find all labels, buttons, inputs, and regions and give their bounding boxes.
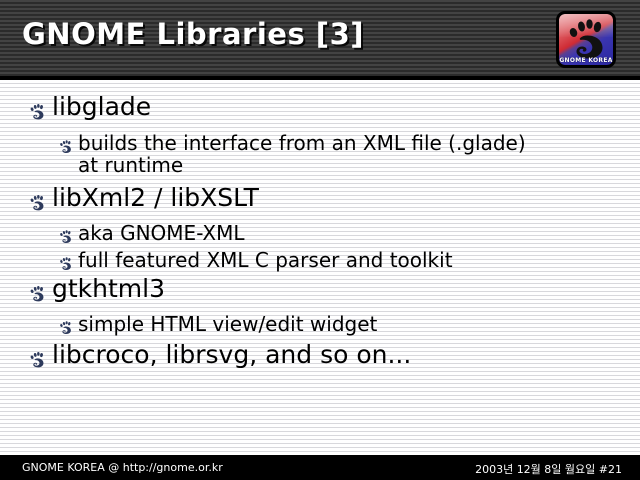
- page-title: GNOME Libraries [3]: [22, 17, 364, 51]
- gnome-foot-bullet-icon: [58, 318, 73, 336]
- gnome-korea-logo: GNOME KOREA: [556, 11, 616, 68]
- gnome-foot-bullet-icon: [58, 137, 73, 155]
- slide-footer: GNOME KOREA @ http://gnome.or.kr 2003년 1…: [0, 455, 640, 480]
- gnome-foot-bullet-icon: [58, 227, 73, 245]
- logo-caption: GNOME KOREA: [559, 57, 613, 64]
- gnome-foot-bullet-icon: [28, 100, 46, 122]
- footer-organization-url: GNOME KOREA @ http://gnome.or.kr: [22, 461, 223, 474]
- list-item: libXml2 / libXSLT: [28, 185, 259, 213]
- list-item-label: libXml2 / libXSLT: [52, 185, 259, 212]
- list-item: simple HTML view/edit widget: [58, 313, 377, 336]
- gnome-foot-bullet-icon: [58, 254, 73, 272]
- footer-date-and-slide-number: 2003년 12월 8일 월요일 #21: [475, 461, 622, 477]
- presentation-slide: GNOME Libraries [3] GNOME KOREA: [0, 0, 640, 480]
- list-item-label: simple HTML view/edit widget: [78, 313, 377, 335]
- list-item: builds the interface from an XML file (.…: [58, 132, 526, 176]
- logo-background: GNOME KOREA: [559, 14, 613, 65]
- list-item-label: aka GNOME-XML: [78, 222, 245, 244]
- gnome-foot-icon: [563, 15, 609, 59]
- list-item-label: gtkhtml3: [52, 276, 165, 303]
- list-item-label: full featured XML C parser and toolkit: [78, 249, 453, 271]
- slide-content: libglade builds the interface from an XM…: [0, 80, 640, 455]
- gnome-foot-bullet-icon: [28, 282, 46, 304]
- list-item: libglade: [28, 94, 151, 122]
- list-item: gtkhtml3: [28, 276, 165, 304]
- list-item: aka GNOME-XML: [58, 222, 245, 245]
- gnome-foot-bullet-icon: [28, 348, 46, 370]
- list-item: full featured XML C parser and toolkit: [58, 249, 453, 272]
- gnome-foot-bullet-icon: [28, 191, 46, 213]
- list-item-label: libglade: [52, 94, 151, 121]
- list-item-label: libcroco, librsvg, and so on...: [52, 342, 411, 369]
- list-item: libcroco, librsvg, and so on...: [28, 342, 411, 370]
- list-item-label: builds the interface from an XML file (.…: [78, 132, 526, 176]
